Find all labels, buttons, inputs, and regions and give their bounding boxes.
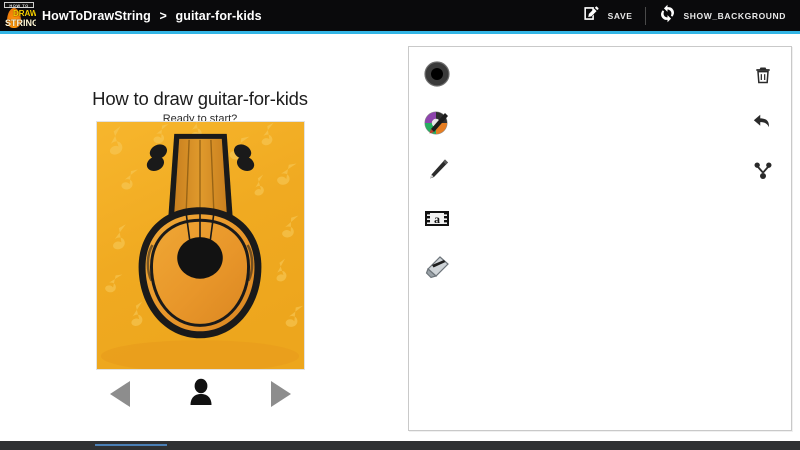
brush-size-dot-icon [423,60,451,93]
titlebar-divider [645,7,646,25]
guitar-artwork[interactable] [96,121,305,370]
person-silhouette-icon[interactable] [189,378,213,411]
brush-size-tool-button[interactable] [419,52,465,100]
trash-icon [753,65,773,90]
eraser-tool-button[interactable] [419,244,465,292]
breadcrumb-separator: > [159,9,166,23]
app-logo-top-text: HOW TO [4,2,34,8]
show-background-button-label: SHOW_BACKGROUND [684,11,787,21]
next-step-button[interactable] [271,381,291,407]
step-navigation [96,374,305,414]
previous-step-button[interactable] [110,381,130,407]
color-palette-tool-button[interactable] [419,100,465,148]
canvas-action-strip [743,53,783,197]
app-logo-draw-text: DRAW [13,9,36,18]
share-button[interactable] [743,149,783,197]
save-edit-icon [582,4,601,28]
save-button[interactable]: SAVE [576,0,639,31]
page-title: How to draw guitar-for-kids [0,88,400,110]
titlebar-actions: SAVE SHOW_BACKGROUND [576,0,800,31]
pencil-tool-button[interactable] [419,148,465,196]
breadcrumb-current: guitar-for-kids [175,9,261,23]
share-icon [753,161,773,186]
color-palette-icon [423,108,451,141]
title-bar: HOW TO DRAW STRING HowToDrawString > gui… [0,0,800,31]
breadcrumb-root[interactable]: HowToDrawString [42,9,151,23]
breadcrumb: HowToDrawString > guitar-for-kids [42,9,262,23]
lesson-pane: How to draw guitar-for-kids Ready to sta… [0,34,400,434]
eraser-icon [423,252,451,285]
bottom-status-bar [0,441,800,450]
undo-button[interactable] [743,101,783,149]
undo-icon [752,112,774,139]
pencil-icon [423,156,451,189]
svg-text:a: a [434,212,440,226]
app-logo-icon: HOW TO DRAW STRING [2,1,36,30]
show-background-button[interactable]: SHOW_BACKGROUND [652,0,793,31]
save-button-label: SAVE [608,11,633,21]
text-tool-button[interactable]: a [419,196,465,244]
drawing-canvas-panel[interactable]: a [408,46,792,431]
text-label-icon: a [423,204,451,237]
progress-indicator [95,444,167,446]
refresh-sync-icon [658,4,677,28]
tool-strip: a [419,52,465,292]
clear-canvas-button[interactable] [743,53,783,101]
app-logo-string-text: STRING [5,18,36,28]
